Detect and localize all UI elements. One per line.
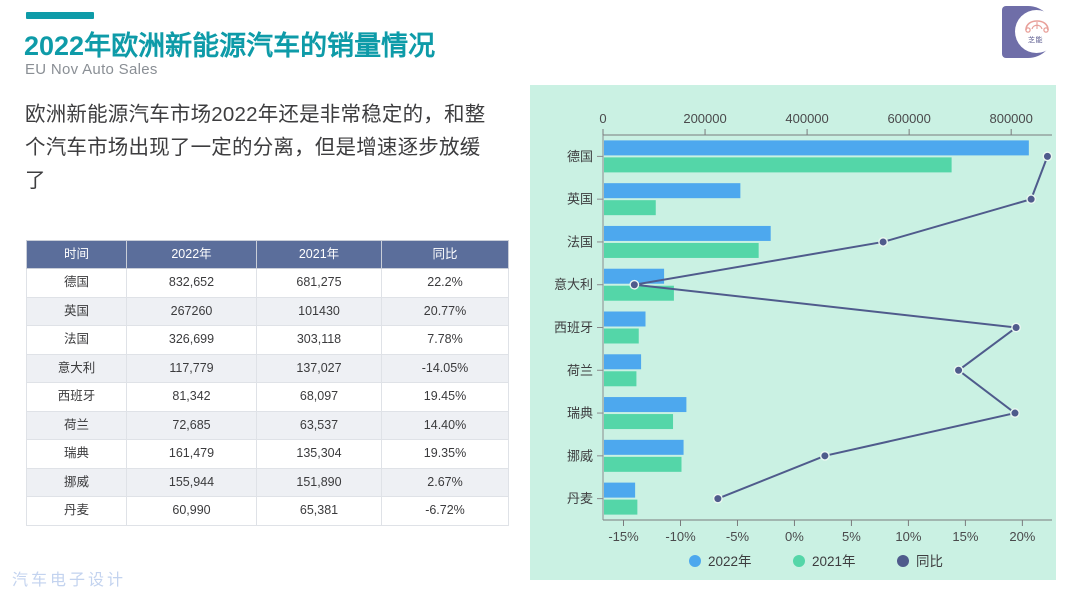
percent-axis-tick-label: 20% bbox=[1009, 529, 1035, 544]
table-row: 意大利117,779137,027-14.05% bbox=[27, 354, 509, 383]
table-cell: 7.78% bbox=[382, 326, 509, 355]
category-label: 意大利 bbox=[554, 277, 593, 292]
table-cell: 德国 bbox=[27, 269, 127, 298]
table-cell: 155,944 bbox=[127, 468, 257, 497]
category-label: 丹麦 bbox=[567, 491, 593, 506]
table-cell: 68,097 bbox=[257, 383, 382, 412]
table-cell: 14.40% bbox=[382, 411, 509, 440]
bar-2022 bbox=[604, 183, 740, 198]
percent-axis-tick-label: 5% bbox=[842, 529, 861, 544]
table-cell: 英国 bbox=[27, 297, 127, 326]
table-header-cell: 同比 bbox=[382, 241, 509, 269]
title-accent-bar bbox=[26, 12, 94, 19]
table-cell: 丹麦 bbox=[27, 497, 127, 526]
bar-2022 bbox=[604, 312, 646, 327]
bar-2022 bbox=[604, 226, 771, 241]
table-cell: 137,027 bbox=[257, 354, 382, 383]
table-cell: 法国 bbox=[27, 326, 127, 355]
yoy-point bbox=[879, 238, 887, 246]
page-subtitle: EU Nov Auto Sales bbox=[25, 61, 158, 78]
table-cell: 2.67% bbox=[382, 468, 509, 497]
left-content-column: 2022年欧洲新能源汽车的销量情况 EU Nov Auto Sales 欧洲新能… bbox=[0, 0, 530, 605]
legend-label: 同比 bbox=[916, 554, 943, 569]
bar-2021 bbox=[604, 200, 656, 215]
percent-axis-tick-label: -15% bbox=[608, 529, 639, 544]
percent-axis-tick-label: 0% bbox=[785, 529, 804, 544]
bar-2021 bbox=[604, 500, 637, 515]
yoy-point bbox=[954, 366, 962, 374]
category-label: 瑞典 bbox=[567, 406, 593, 421]
table-cell: 65,381 bbox=[257, 497, 382, 526]
category-label: 德国 bbox=[567, 149, 593, 164]
table-cell: 326,699 bbox=[127, 326, 257, 355]
table-body: 德国832,652681,27522.2%英国26726010143020.77… bbox=[27, 269, 509, 526]
table-header-cell: 2022年 bbox=[127, 241, 257, 269]
table-cell: 瑞典 bbox=[27, 440, 127, 469]
legend-label: 2022年 bbox=[708, 554, 752, 569]
table-cell: 意大利 bbox=[27, 354, 127, 383]
bar-2022 bbox=[604, 397, 686, 412]
bar-2021 bbox=[604, 329, 639, 344]
table-cell: 117,779 bbox=[127, 354, 257, 383]
table-cell: -6.72% bbox=[382, 497, 509, 526]
table-cell: -14.05% bbox=[382, 354, 509, 383]
lede-paragraph: 欧洲新能源汽车市场2022年还是非常稳定的，和整个汽车市场出现了一定的分离，但是… bbox=[25, 98, 495, 197]
table-cell: 荷兰 bbox=[27, 411, 127, 440]
category-label: 挪威 bbox=[567, 448, 593, 463]
bar-2021 bbox=[604, 157, 952, 172]
bar-2021 bbox=[604, 414, 673, 429]
sales-axis-tick-label: 200000 bbox=[683, 111, 726, 126]
car-logo-icon bbox=[1024, 19, 1050, 33]
percent-axis-tick-label: -10% bbox=[665, 529, 696, 544]
category-label: 荷兰 bbox=[567, 363, 593, 378]
yoy-point bbox=[821, 452, 829, 460]
table-row: 挪威155,944151,8902.67% bbox=[27, 468, 509, 497]
yoy-point bbox=[1043, 152, 1051, 160]
table-row: 丹麦60,99065,381-6.72% bbox=[27, 497, 509, 526]
sales-axis-tick-label: 400000 bbox=[785, 111, 828, 126]
page-title: 2022年欧洲新能源汽车的销量情况 bbox=[24, 24, 435, 63]
yoy-point bbox=[1012, 323, 1020, 331]
yoy-point bbox=[1027, 195, 1035, 203]
table-cell: 19.45% bbox=[382, 383, 509, 412]
table-cell: 267260 bbox=[127, 297, 257, 326]
sales-axis-tick-label: 800000 bbox=[989, 111, 1032, 126]
bar-2022 bbox=[604, 354, 641, 369]
table-header-row: 时间 2022年 2021年 同比 bbox=[27, 241, 509, 269]
watermark-text: 汽车电子设计 bbox=[12, 566, 126, 590]
logo-wordmark: 芝能 bbox=[1028, 35, 1043, 45]
percent-axis-tick-label: 10% bbox=[895, 529, 921, 544]
combo-chart: 0200000400000600000800000-15%-10%-5%0%5%… bbox=[530, 85, 1056, 580]
bar-2022 bbox=[604, 140, 1029, 155]
yoy-point bbox=[1011, 409, 1019, 417]
category-label: 西班牙 bbox=[554, 320, 593, 335]
table-cell: 303,118 bbox=[257, 326, 382, 355]
table-cell: 101430 bbox=[257, 297, 382, 326]
table-cell: 681,275 bbox=[257, 269, 382, 298]
sales-axis-tick-label: 0 bbox=[599, 111, 606, 126]
table-cell: 19.35% bbox=[382, 440, 509, 469]
legend-swatch bbox=[689, 555, 701, 567]
percent-axis-tick-label: -5% bbox=[726, 529, 750, 544]
table-header-cell: 2021年 bbox=[257, 241, 382, 269]
legend-swatch bbox=[793, 555, 805, 567]
table-cell: 81,342 bbox=[127, 383, 257, 412]
chart-panel: 0200000400000600000800000-15%-10%-5%0%5%… bbox=[530, 85, 1056, 580]
bar-2021 bbox=[604, 243, 759, 258]
category-label: 英国 bbox=[567, 192, 593, 207]
table-cell: 832,652 bbox=[127, 269, 257, 298]
table-cell: 22.2% bbox=[382, 269, 509, 298]
table-cell: 151,890 bbox=[257, 468, 382, 497]
percent-axis-tick-label: 15% bbox=[952, 529, 978, 544]
table-row: 英国26726010143020.77% bbox=[27, 297, 509, 326]
bar-2022 bbox=[604, 440, 684, 455]
table-cell: 135,304 bbox=[257, 440, 382, 469]
table-cell: 西班牙 bbox=[27, 383, 127, 412]
bar-2022 bbox=[604, 483, 635, 498]
yoy-point bbox=[630, 281, 638, 289]
table-cell: 63,537 bbox=[257, 411, 382, 440]
sales-table: 时间 2022年 2021年 同比 德国832,652681,27522.2%英… bbox=[26, 240, 509, 526]
table-row: 德国832,652681,27522.2% bbox=[27, 269, 509, 298]
table-row: 瑞典161,479135,30419.35% bbox=[27, 440, 509, 469]
table-row: 法国326,699303,1187.78% bbox=[27, 326, 509, 355]
table-row: 荷兰72,68563,53714.40% bbox=[27, 411, 509, 440]
table-header-cell: 时间 bbox=[27, 241, 127, 269]
category-label: 法国 bbox=[567, 234, 593, 249]
legend-swatch bbox=[897, 555, 909, 567]
table-cell: 161,479 bbox=[127, 440, 257, 469]
bar-2021 bbox=[604, 371, 636, 386]
sales-axis-tick-label: 600000 bbox=[887, 111, 930, 126]
yoy-point bbox=[714, 494, 722, 502]
table-cell: 20.77% bbox=[382, 297, 509, 326]
table-row: 西班牙81,34268,09719.45% bbox=[27, 383, 509, 412]
table-cell: 72,685 bbox=[127, 411, 257, 440]
table-cell: 60,990 bbox=[127, 497, 257, 526]
yoy-line bbox=[634, 156, 1047, 498]
brand-logo: 芝能 bbox=[1002, 6, 1054, 58]
legend-label: 2021年 bbox=[812, 554, 856, 569]
table-cell: 挪威 bbox=[27, 468, 127, 497]
bar-2021 bbox=[604, 457, 681, 472]
